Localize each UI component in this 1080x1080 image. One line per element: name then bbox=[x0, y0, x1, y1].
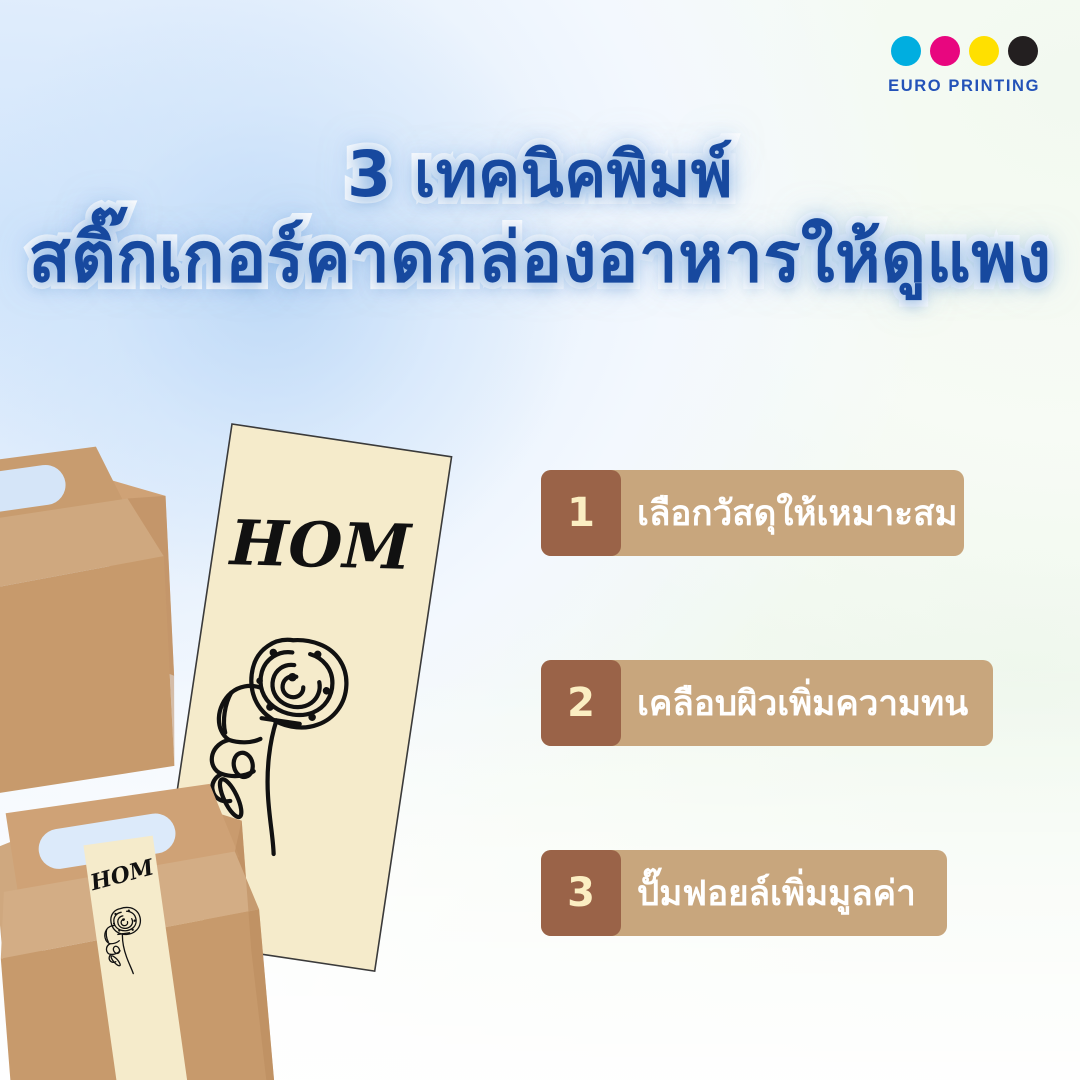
step-label: เคลือบผิวเพิ่มความทน bbox=[637, 660, 968, 746]
black-dot bbox=[1008, 36, 1038, 66]
poster-canvas: EURO PRINTING 3 เทคนิคพิมพ์ สติ๊กเกอร์คา… bbox=[0, 0, 1080, 1080]
svg-text:HOM: HOM bbox=[227, 506, 414, 584]
step-label: ปั๊มฟอยล์เพิ่มมูลค่า bbox=[637, 850, 916, 936]
step-label: เลือกวัสดุให้เหมาะสม bbox=[637, 470, 958, 556]
brand-name: EURO PRINTING bbox=[888, 77, 1040, 96]
yellow-dot bbox=[969, 36, 999, 66]
product-illustration: HOM HOM bbox=[0, 0, 560, 1080]
brand-logo: EURO PRINTING bbox=[888, 36, 1040, 96]
step-number-badge: 2 bbox=[541, 660, 621, 746]
magenta-dot bbox=[930, 36, 960, 66]
step-number-badge: 1 bbox=[541, 470, 621, 556]
step-number-badge: 3 bbox=[541, 850, 621, 936]
cmyk-dots bbox=[888, 36, 1040, 66]
cyan-dot bbox=[891, 36, 921, 66]
